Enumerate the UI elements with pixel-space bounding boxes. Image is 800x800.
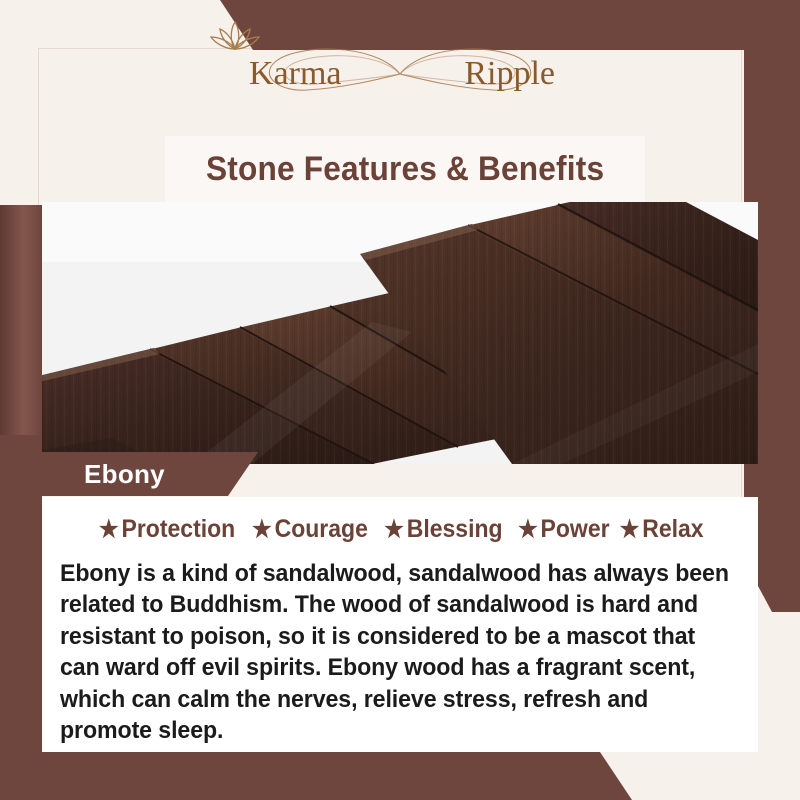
product-name-banner: Ebony — [28, 452, 258, 496]
feature-list: ★ Protection ★ Courage ★ Blessing ★ Powe… — [60, 515, 740, 544]
feature-item-blessing: ★ Blessing — [384, 515, 502, 544]
feature-label: Protection — [122, 515, 236, 544]
logo-word-ripple: Ripple — [464, 55, 555, 93]
brand-logo: Karma Ripple — [0, 36, 800, 112]
product-name: Ebony — [28, 459, 165, 490]
logo-inner: Karma Ripple — [235, 36, 565, 112]
star-icon: ★ — [518, 518, 538, 542]
star-icon: ★ — [99, 518, 119, 542]
frame-bar-left-gradient — [0, 205, 42, 435]
feature-label: Courage — [275, 515, 368, 544]
logo-word-karma: Karma — [249, 55, 342, 93]
feature-item-power: ★ Power — [518, 515, 610, 544]
feature-label: Power — [541, 515, 610, 544]
feature-item-protection: ★ Protection — [99, 515, 235, 544]
feature-label: Relax — [642, 515, 703, 544]
star-icon: ★ — [619, 518, 639, 542]
star-icon: ★ — [384, 518, 404, 542]
lotus-icon — [206, 16, 264, 56]
title-band: Stone Features & Benefits — [165, 136, 645, 202]
star-icon: ★ — [252, 518, 272, 542]
feature-label: Blessing — [407, 515, 503, 544]
ebony-planks-illustration — [42, 202, 758, 464]
product-photo — [42, 202, 758, 464]
poster-canvas: Karma Ripple Stone Features & Benefits — [0, 0, 800, 800]
frame-bar-bottom — [0, 752, 800, 800]
content-card: ★ Protection ★ Courage ★ Blessing ★ Powe… — [42, 497, 758, 752]
product-description: Ebony is a kind of sandalwood, sandalwoo… — [60, 558, 736, 747]
feature-item-courage: ★ Courage — [252, 515, 368, 544]
feature-item-relax: ★ Relax — [619, 515, 703, 544]
page-title: Stone Features & Benefits — [206, 150, 604, 189]
